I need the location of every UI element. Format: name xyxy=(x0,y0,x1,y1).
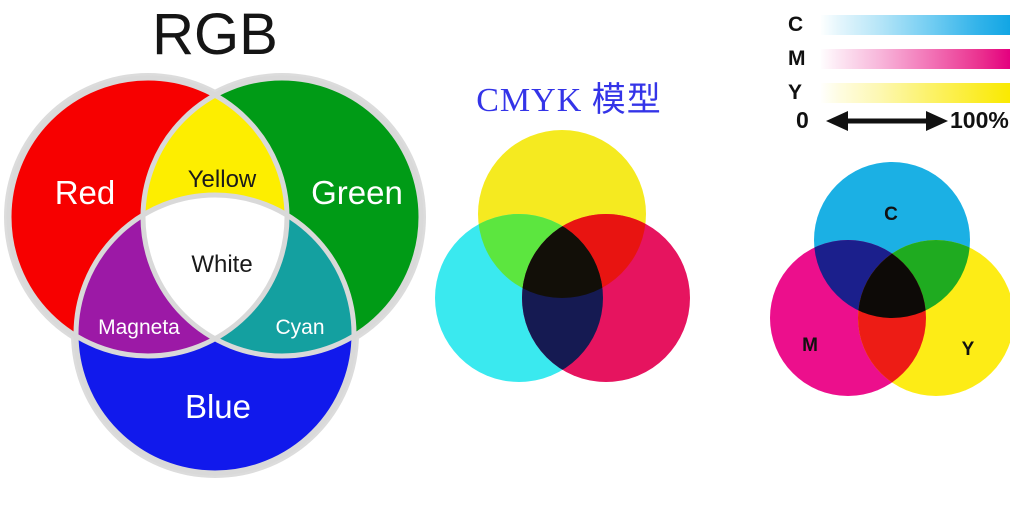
cmyk-panel: CMYK 模型 xyxy=(424,0,754,522)
yellow-ramp-row: Y xyxy=(788,80,1017,106)
magenta-ramp-row: M xyxy=(788,46,1017,72)
cmy-venn-diagram: C M Y xyxy=(760,155,1010,425)
cmy-label-c: C xyxy=(884,204,898,225)
cmyk-venn-diagram xyxy=(424,118,714,418)
cyan-ramp-bar xyxy=(821,15,1010,35)
cmy-panel: C M Y 0 100% xyxy=(760,0,1017,522)
rgb-panel: RGB xyxy=(0,0,430,522)
rgb-label-yellow: Yellow xyxy=(188,166,257,193)
rgb-label-green: Green xyxy=(311,174,403,211)
rgb-label-magenta: Magneta xyxy=(98,316,180,339)
double-arrow-icon xyxy=(826,110,948,132)
cmy-label-y: Y xyxy=(962,339,975,360)
yellow-ramp-bar xyxy=(821,83,1010,103)
scale-min-label: 0 xyxy=(796,107,809,134)
magenta-ramp-bar xyxy=(821,49,1010,69)
rgb-venn-diagram: Red Green Blue Yellow Cyan Magneta White xyxy=(0,62,430,512)
rgb-label-cyan: Cyan xyxy=(275,316,324,339)
cmyk-title: CMYK 模型 xyxy=(424,72,714,121)
rgb-label-red: Red xyxy=(55,174,116,211)
rgb-title: RGB xyxy=(0,4,430,66)
cyan-ramp-row: C xyxy=(788,12,1017,38)
cyan-ramp-label: C xyxy=(788,12,814,38)
scale-max-label: 100% xyxy=(950,107,1009,134)
yellow-ramp-label: Y xyxy=(788,80,814,106)
ramp-scale: 0 100% xyxy=(788,104,1017,138)
magenta-ramp-label: M xyxy=(788,46,814,72)
rgb-label-blue: Blue xyxy=(185,388,251,425)
cmy-label-m: M xyxy=(802,335,818,356)
rgb-label-white: White xyxy=(191,251,252,278)
